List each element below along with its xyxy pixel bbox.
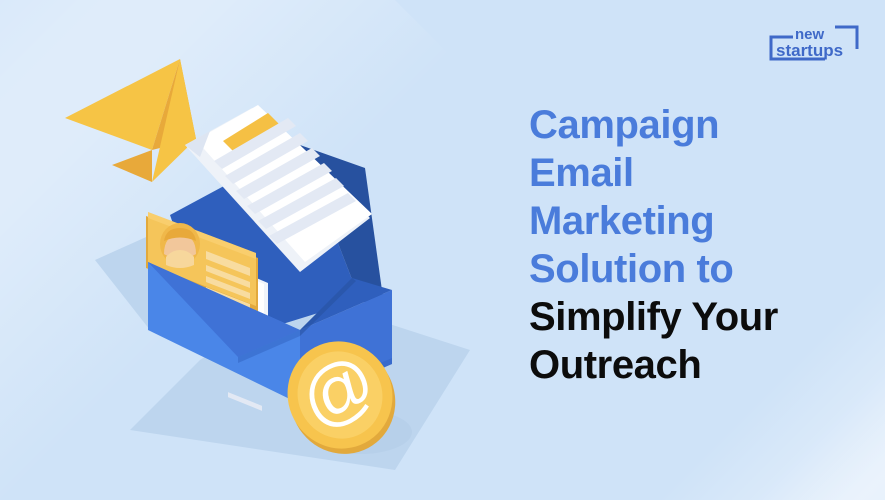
new-startups-logo[interactable]: new startups — [765, 18, 863, 68]
avatar-blond — [160, 223, 200, 268]
headline-line-2: Email — [529, 149, 874, 197]
paper-plane-icon — [65, 59, 196, 182]
headline-line-3: Marketing — [529, 197, 874, 245]
headline-line-4: Solution to — [529, 245, 874, 293]
headline-line-1: Campaign — [529, 101, 874, 149]
hero-banner: @ new startups Campaign Email Marketing … — [0, 0, 885, 500]
headline: Campaign Email Marketing Solution to Sim… — [529, 101, 874, 389]
email-illustration: @ — [0, 0, 500, 500]
logo-text-startups: startups — [776, 41, 843, 60]
headline-line-6: Outreach — [529, 341, 874, 389]
headline-line-5: Simplify Your — [529, 293, 874, 341]
